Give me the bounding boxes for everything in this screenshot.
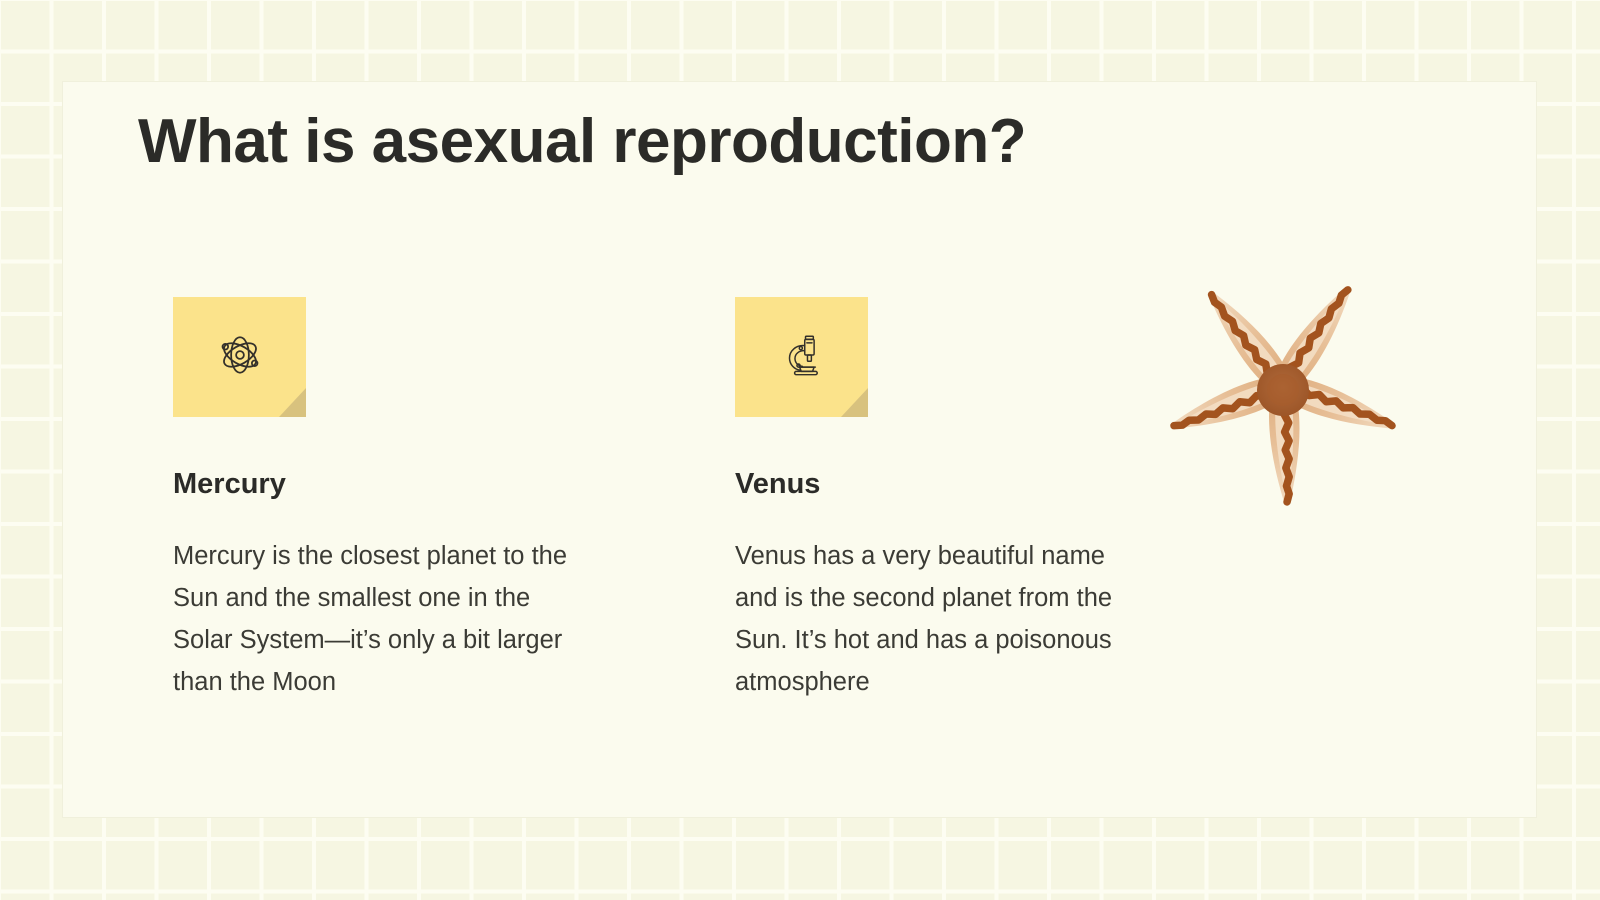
column-heading: Mercury bbox=[173, 469, 585, 501]
page-title: What is asexual reproduction? bbox=[138, 108, 1026, 176]
atom-icon bbox=[173, 297, 306, 413]
slide-canvas: What is asexual reproduction? bbox=[0, 0, 1600, 900]
feature-column-mercury: Mercury Mercury is the closest planet to… bbox=[173, 297, 585, 703]
sticky-note-mercury bbox=[173, 297, 306, 417]
feature-columns: Mercury Mercury is the closest planet to… bbox=[173, 297, 1173, 703]
microscope-icon bbox=[735, 297, 868, 413]
sticky-note-venus bbox=[735, 297, 868, 417]
starfish-illustration bbox=[1108, 218, 1458, 548]
column-body-text: Mercury is the closest planet to the Sun… bbox=[173, 535, 585, 703]
feature-column-venus: Venus Venus has a very beautiful name an… bbox=[735, 297, 1147, 703]
column-body-text: Venus has a very beautiful name and is t… bbox=[735, 535, 1147, 703]
column-heading: Venus bbox=[735, 469, 1147, 501]
